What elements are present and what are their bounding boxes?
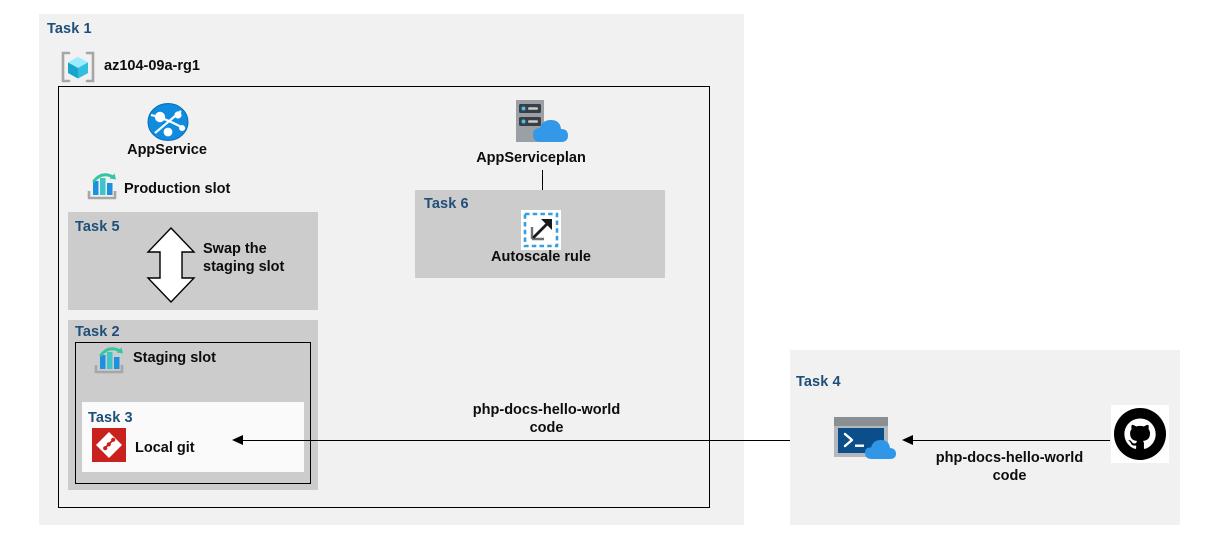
task6-label: Task 6 bbox=[424, 196, 469, 212]
task3-label: Task 3 bbox=[88, 410, 133, 426]
task2-label: Task 2 bbox=[75, 324, 120, 340]
swap-label-line1: Swap the bbox=[203, 241, 267, 257]
local-git-label: Local git bbox=[135, 440, 195, 456]
connector-cloudshell-label-line2: code bbox=[530, 420, 564, 436]
staging-slot-label: Staging slot bbox=[133, 350, 216, 366]
connector-cloudshell-to-localgit bbox=[243, 440, 863, 441]
production-slot-label: Production slot bbox=[124, 181, 230, 197]
connector-github-label-line1: php-docs-hello-world bbox=[936, 450, 1083, 466]
autoscale-rule-label: Autoscale rule bbox=[491, 249, 591, 265]
task4-label: Task 4 bbox=[796, 374, 841, 390]
connector-cloudshell-label-line1: php-docs-hello-world bbox=[473, 402, 620, 418]
resource-group-label: az104-09a-rg1 bbox=[104, 58, 200, 74]
app-service-plan-label: AppServiceplan bbox=[476, 150, 586, 166]
autoscale-rule-icon bbox=[521, 210, 561, 250]
connector-cloudshell-label: php-docs-hello-world code bbox=[464, 401, 629, 437]
staging-slot-icon bbox=[92, 347, 126, 377]
swap-label-line2: staging slot bbox=[203, 259, 284, 275]
connector-github-to-cloudshell-arrowhead bbox=[902, 435, 913, 445]
swap-label: Swap the staging slot bbox=[203, 240, 313, 276]
connector-github-label: php-docs-hello-world code bbox=[927, 449, 1092, 485]
connector-github-label-line2: code bbox=[993, 468, 1027, 484]
git-icon bbox=[92, 428, 126, 462]
app-service-label: AppService bbox=[127, 142, 207, 158]
diagram-canvas: Task 1 az104-09a-rg1 AppService bbox=[0, 0, 1218, 545]
cloud-shell-icon bbox=[832, 415, 900, 463]
production-slot-icon bbox=[85, 173, 119, 203]
connector-github-to-cloudshell bbox=[913, 440, 1110, 441]
swap-double-arrow-icon bbox=[144, 226, 198, 304]
app-service-icon bbox=[147, 103, 189, 141]
resource-group-icon bbox=[60, 50, 96, 84]
connector-cloudshell-to-localgit-arrowhead bbox=[232, 435, 243, 445]
github-icon bbox=[1111, 405, 1169, 463]
task1-label: Task 1 bbox=[47, 21, 92, 37]
app-service-plan-icon bbox=[511, 98, 573, 146]
task5-label: Task 5 bbox=[75, 219, 120, 235]
